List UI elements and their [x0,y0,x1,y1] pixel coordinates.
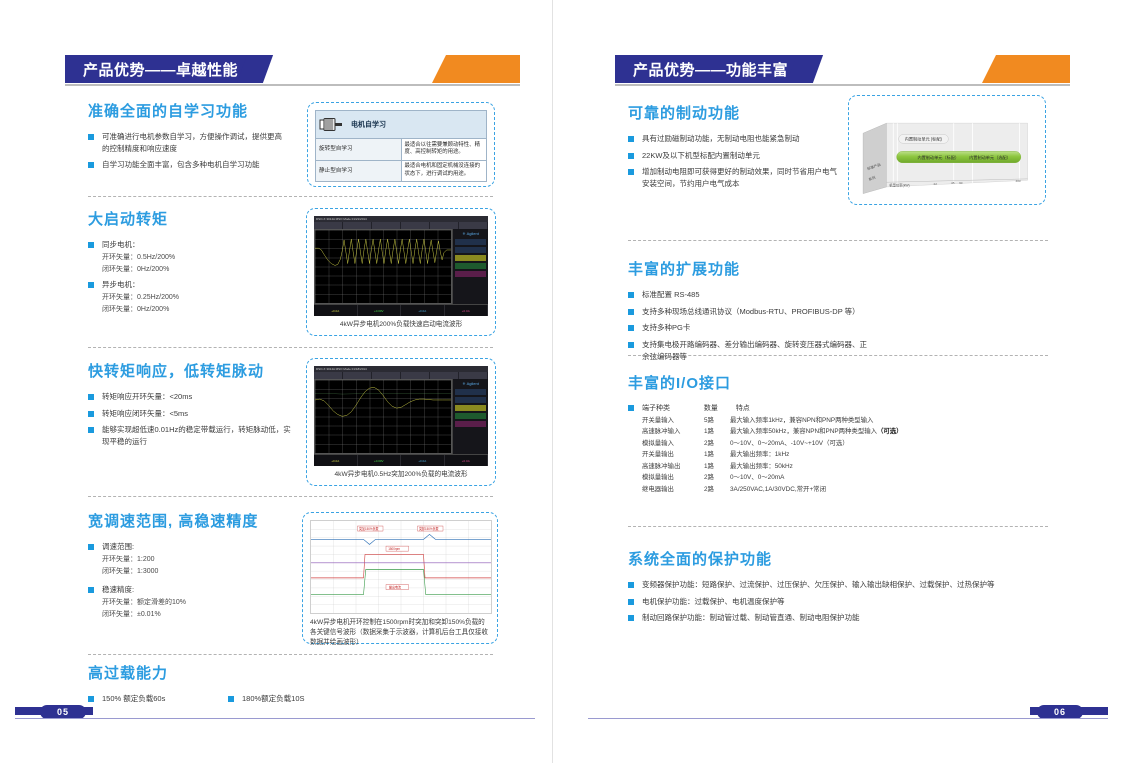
svg-text:机型功率(kW): 机型功率(kW) [889,182,909,187]
table-cell-label: 旋转型自学习 [316,139,402,161]
section-protection: 系统全面的保护功能 变频器保护功能：短路保护、过流保护、过压保护、欠压保护、输入… [628,548,1058,629]
scope-waveform-2 [315,380,451,425]
scope-menu-item [372,222,401,229]
figure-brake-diagram: 内置制动单元 (标配) 内置制动单元（标配） 内置制动单元（选配） 机型功率(k… [848,95,1046,205]
list-item: 可准确进行电机参数自学习，方便操作调试，提供更高的控制精度和响应速度 [88,131,288,154]
separator [88,654,493,655]
scope-side-chip [455,397,486,403]
io-cell-feature: 最大输出频率：50kHz [730,461,903,473]
figure-signal-chart: 突加150%负载 突卸150%负载 1500rpm 输出电流 4kW异步电机开环… [302,512,498,644]
list-item: 支持多种PG卡 [628,322,1048,334]
scope-menu-item [401,372,430,379]
io-cell-feature: 最大输出频率：1kHz [730,450,903,462]
list-item: 同步电机： [88,239,288,251]
svg-text:内置制动单元（选配）: 内置制动单元（选配） [969,154,1011,160]
agilent-logo: ✳ Agilent [453,379,488,388]
section-expansion: 丰富的扩展功能 标准配置 RS-485 支持多种现场总线通讯协议（Modbus-… [628,258,1048,367]
io-table: 开关量输入 5路 最大输入频率1kHz，兼容NPN和PNP两种类型输入 高速脉冲… [642,415,903,496]
table-row: 静止型自学习 最适合电机和固定机械没连接的状态下，进行调试的用途。 [316,160,487,182]
self-learning-table: 电机自学习 旋转型自学习 最适合以往需要兼顾动特性、精度、高控制转矩的用途。 静… [315,110,487,182]
scope-side-chip [455,247,486,253]
scope-menubar [314,222,488,229]
svg-text:45: 45 [951,181,955,185]
scope-side-chip [455,271,486,277]
oscilloscope-screenshot-1: DSO-X 3014A MSO Mode 01/21/2014 ✳ Agilen… [314,216,488,316]
io-col-header-feature: 特点 [736,405,750,412]
table-row: 高速脉冲输出 1路 最大输出频率：50kHz [642,461,903,473]
right-page: 产品优势——功能丰富 可靠的制动功能 具有过励磁制动功能，无制动电阻也能紧急制动… [570,0,1113,763]
scope-waveform-1 [315,230,451,275]
io-cell-feature-text: 最大输出频率：1kHz [730,451,789,458]
bullets-speed-accuracy: 稳速精度: [88,584,288,596]
scope-readout: +0.0A [314,305,358,316]
list-item: 180%额定负载10S [228,693,305,705]
sub-closed-loop-async: 闭环矢量：0Hz/200% [88,304,288,316]
io-cell-feature-text: 0～10V、0～20mA [730,474,784,481]
list-item: 标准配置 RS-485 [628,289,1048,301]
signal-chart-svg: 突加150%负载 突卸150%负载 1500rpm 输出电流 [311,521,491,613]
list-item: 转矩响应闭环矢量：<5ms [88,408,293,420]
figure-self-learning-table: 电机自学习 旋转型自学习 最适合以往需要兼顾动特性、精度、高控制转矩的用途。 静… [307,102,495,187]
bullets-expansion: 标准配置 RS-485 支持多种现场总线通讯协议（Modbus-RTU、PROF… [628,289,1048,362]
io-cell-qty: 1路 [704,461,730,473]
section-braking: 可靠的制动功能 具有过励磁制动功能，无制动电阻也能紧急制动 22KW及以下机型标… [628,102,838,195]
scope-menu-item [459,372,488,379]
scope-bottombar: +0.0A +0.00V +0.0A +0.0A [314,304,488,316]
scope-bottombar: +0.0A +0.00V +0.0A +0.0A [314,454,488,466]
io-cell-feature-text: 0～10V、0～20mA、-10V~+10V（可选） [730,440,849,447]
io-cell-type: 模拟量输入 [642,438,704,450]
scope-side-chip [455,405,486,411]
io-cell-type: 继电器输出 [642,484,704,496]
list-item: 能够实现超低速0.01Hz的稳定带载运行，转矩脉动低，实现平稳的运行 [88,424,293,447]
svg-text:输出电流: 输出电流 [389,584,402,589]
right-page-number: 06 [1037,705,1083,719]
list-item: 22KW及以下机型标配内置制动单元 [628,150,838,162]
io-cell-type: 开关量输入 [642,415,704,427]
left-banner: 产品优势——卓越性能 [65,55,520,83]
heading-torque-response: 快转矩响应，低转矩脉动 [88,360,293,381]
scope-grid [314,229,452,304]
bullets-speed-range: 调速范围: [88,541,288,553]
io-cell-feature-optional: （可选） [877,428,903,435]
svg-text:内置制动单元（标配）: 内置制动单元（标配） [917,154,959,160]
section-io: 丰富的I/O接口 端子种类 数量 特点 开关量输入 5路 最大输入频率1kHz，… [628,372,1058,496]
io-cell-feature: 0～10V、0～20mA、-10V~+10V（可选） [730,438,903,450]
section-overload: 高过载能力 150% 额定负载60s 180%额定负载10S [88,662,488,710]
io-cell-qty: 2路 [704,473,730,485]
io-cell-type: 开关量输出 [642,450,704,462]
left-footer-rule [15,718,535,719]
section-torque-response: 快转矩响应，低转矩脉动 转矩响应开环矢量：<20ms 转矩响应闭环矢量：<5ms… [88,360,293,453]
table-row: 继电器输出 2路 3A/250VAC,1A/30VDC,常开+常闭 [642,484,903,496]
sub-closed-loop-accuracy: 闭环矢量：±0.01% [88,609,288,621]
scope-readout: +0.0A [401,305,445,316]
svg-text:突加150%负载: 突加150%负载 [359,526,379,531]
caption-scope-2: 4kW异步电机0.5Hz突加200%负载的电流波形 [314,470,488,480]
scope-menubar [314,372,488,379]
table-cell-label: 静止型自学习 [316,160,402,182]
sub-closed-loop-sync: 闭环矢量：0Hz/200% [88,264,288,276]
table-cell-desc: 最适合电机和固定机械没连接的状态下，进行调试的用途。 [401,160,487,182]
io-cell-qty: 5路 [704,415,730,427]
left-banner-underline [65,84,520,86]
list-item: 电机保护功能：过载保护、电机温度保护等 [628,596,1058,608]
list-item: 异步电机： [88,279,288,291]
right-footer-rule [588,718,1108,719]
list-item: 支持集电极开路编码器、差分输出编码器、旋转变压器式编码器、正余弦编码器等 [628,339,872,362]
right-banner: 产品优势——功能丰富 [615,55,1070,83]
io-cell-type: 高速脉冲输入 [642,427,704,439]
svg-text:400: 400 [1015,179,1020,183]
sub-closed-loop-range: 闭环矢量：1:3000 [88,566,288,578]
left-banner-orange-tab [432,55,520,83]
sub-open-loop-sync: 开环矢量：0.5Hz/200% [88,252,288,264]
signal-chart: 突加150%负载 突卸150%负载 1500rpm 输出电流 [310,520,492,614]
scope-menu-item [401,222,430,229]
caption-signal-chart: 4kW异步电机开环控制在1500rpm时突加和突卸150%负载的各关键信号波形（… [310,618,490,648]
right-banner-orange-tab [982,55,1070,83]
scope-side-panel: ✳ Agilent [452,229,488,304]
sub-open-loop-accuracy: 开环矢量：额定滑差的10% [88,597,288,609]
section-self-learning: 准确全面的自学习功能 可准确进行电机参数自学习，方便操作调试，提供更高的控制精度… [88,100,288,176]
table-row: 模拟量输入 2路 0～10V、0～20mA、-10V~+10V（可选） [642,438,903,450]
table-row: 电机自学习 [316,111,487,139]
scope-menu-item [343,372,372,379]
bullets-protection: 变频器保护功能：短路保护、过流保护、过压保护、欠压保护、输入输出缺相保护、过载保… [628,579,1058,624]
scope-menu-item [430,372,459,379]
scope-readout: +0.0A [401,455,445,466]
scope-body: ✳ Agilent [314,229,488,304]
svg-text:22: 22 [934,182,938,186]
caption-scope-1: 4kW异步电机200%负载快速启动电流波形 [314,320,488,330]
scope-menu-item [372,372,401,379]
io-cell-feature: 最大输入频率1kHz，兼容NPN和PNP两种类型输入 [730,415,903,427]
heading-braking: 可靠的制动功能 [628,102,838,123]
svg-text:内置制动单元 (标配): 内置制动单元 (标配) [905,136,943,142]
right-banner-gap [818,55,982,83]
separator [628,240,1048,241]
io-cell-feature: 0～10V、0～20mA [730,473,903,485]
list-item: 调速范围: [88,541,288,553]
heading-io: 丰富的I/O接口 [628,372,1058,393]
left-page-number: 05 [40,705,86,719]
scope-readout: +0.00V [358,305,402,316]
svg-text:90: 90 [959,181,963,185]
left-banner-gap [268,55,432,83]
list-item: 具有过励磁制动功能，无制动电阻也能紧急制动 [628,133,838,145]
table-cell-desc: 最适合以往需要兼顾动特性、精度、高控制转矩的用途。 [401,139,487,161]
table-row: 旋转型自学习 最适合以往需要兼顾动特性、精度、高控制转矩的用途。 [316,139,487,161]
self-learning-table-title: 电机自学习 [316,111,487,139]
sub-open-loop-async: 开环矢量：0.25Hz/200% [88,292,288,304]
table-row: 开关量输入 5路 最大输入频率1kHz，兼容NPN和PNP两种类型输入 [642,415,903,427]
scope-menu-item [314,372,343,379]
section-speed-range: 宽调速范围, 高稳速精度 调速范围: 开环矢量：1:200 闭环矢量：1:300… [88,510,288,621]
right-footer: 06 [570,705,1113,723]
left-banner-title: 产品优势——卓越性能 [65,55,248,83]
figure-scope-1: DSO-X 3014A MSO Mode 01/21/2014 ✳ Agilen… [306,208,496,336]
list-item: 制动回路保护功能：制动管过载、制动管直通、制动电阻保护功能 [628,612,1058,624]
io-col-header-qty: 数量 [704,405,718,412]
io-col-header-type: 端子种类 [642,405,670,412]
self-learning-table-title-text: 电机自学习 [351,121,386,128]
heading-overload: 高过载能力 [88,662,488,683]
scope-side-chip [455,255,486,261]
io-cell-type: 模拟量输出 [642,473,704,485]
table-row: 模拟量输出 2路 0～10V、0～20mA [642,473,903,485]
scope-menu-item [459,222,488,229]
scope-body: ✳ Agilent [314,379,488,454]
scope-readout: +0.0A [445,305,489,316]
oscilloscope-screenshot-2: DSO-X 3014A MSO Mode 01/18/2014 ✳ Agile [314,366,488,466]
scope-readout: +0.0A [314,455,358,466]
io-cell-feature-text: 最大输入频率1kHz，兼容NPN和PNP两种类型输入 [730,417,873,424]
io-cell-feature-text: 最大输入频率50kHz，兼容NPN和PNP两种类型输入 [730,428,877,435]
scope-menu-item [314,222,343,229]
list-item: 稳速精度: [88,584,288,596]
separator [88,196,493,197]
io-cell-type: 高速脉冲输出 [642,461,704,473]
list-item: 支持多种现场总线通讯协议（Modbus-RTU、PROFIBUS-DP 等） [628,306,1048,318]
table-row: 开关量输出 1路 最大输出频率：1kHz [642,450,903,462]
scope-side-chip [455,413,486,419]
scope-side-panel: ✳ Agilent [452,379,488,454]
sub-open-loop-range: 开环矢量：1:200 [88,554,288,566]
list-item: 变频器保护功能：短路保护、过流保护、过压保护、欠压保护、输入输出缺相保护、过载保… [628,579,1058,591]
io-table-header-row: 端子种类 数量 特点 [628,403,1058,413]
io-cell-qty: 1路 [704,450,730,462]
separator [88,347,493,348]
scope-side-chip [455,389,486,395]
scope-side-chip [455,421,486,427]
list-item: 自学习功能全面丰富，包含多种电机自学习功能 [88,159,288,171]
scope-side-chip [455,239,486,245]
io-cell-qty: 1路 [704,427,730,439]
bullets-start-torque-async: 异步电机： [88,279,288,291]
list-item: 150% 额定负载60s [88,693,228,705]
io-cell-qty: 2路 [704,484,730,496]
io-cell-feature-text: 最大输出频率：50kHz [730,463,793,470]
section-start-torque: 大启动转矩 同步电机： 开环矢量：0.5Hz/200% 闭环矢量：0Hz/200… [88,208,288,316]
bullets-braking: 具有过励磁制动功能，无制动电阻也能紧急制动 22KW及以下机型标配内置制动单元 … [628,133,838,190]
heading-speed-range: 宽调速范围, 高稳速精度 [88,510,288,531]
heading-protection: 系统全面的保护功能 [628,548,1058,569]
brake-diagram-svg: 内置制动单元 (标配) 内置制动单元（标配） 内置制动单元（选配） 机型功率(k… [856,103,1038,197]
bullets-torque-response: 转矩响应开环矢量：<20ms 转矩响应闭环矢量：<5ms 能够实现超低速0.01… [88,391,293,448]
table-row: 高速脉冲输入 1路 最大输入频率50kHz，兼容NPN和PNP两种类型输入（可选… [642,427,903,439]
separator [88,496,493,497]
left-page: 产品优势——卓越性能 准确全面的自学习功能 可准确进行电机参数自学习，方便操作调… [10,0,553,763]
separator [628,355,1048,356]
scope-grid [314,379,452,454]
separator [628,526,1048,527]
io-cell-feature-text: 3A/250VAC,1A/30VDC,常开+常闭 [730,486,826,493]
scope-menu-item [343,222,372,229]
figure-scope-2: DSO-X 3014A MSO Mode 01/18/2014 ✳ Agile [306,358,496,486]
scope-readout: +0.0A [445,455,489,466]
io-cell-feature: 3A/250VAC,1A/30VDC,常开+常闭 [730,484,903,496]
list-item: 增加制动电阻即可获得更好的制动效果，同时节省用户电气安装空间，节约用户电气成本 [628,166,838,189]
heading-start-torque: 大启动转矩 [88,208,288,229]
agilent-logo: ✳ Agilent [453,229,488,238]
scope-side-chip [455,263,486,269]
bullets-start-torque: 同步电机： [88,239,288,251]
scope-readout: +0.00V [358,455,402,466]
io-cell-feature: 最大输入频率50kHz，兼容NPN和PNP两种类型输入（可选） [730,427,903,439]
io-cell-qty: 2路 [704,438,730,450]
svg-text:1500rpm: 1500rpm [388,547,400,551]
scope-menu-item [430,222,459,229]
motor-icon [319,118,345,131]
svg-text:突卸150%负载: 突卸150%负载 [419,526,439,531]
left-footer: 05 [10,705,553,723]
heading-expansion: 丰富的扩展功能 [628,258,1048,279]
right-banner-title: 产品优势——功能丰富 [615,55,798,83]
right-banner-underline [615,84,1070,86]
bullets-self-learning: 可准确进行电机参数自学习，方便操作调试，提供更高的控制精度和响应速度 自学习功能… [88,131,288,171]
heading-self-learning: 准确全面的自学习功能 [88,100,288,121]
list-item: 转矩响应开环矢量：<20ms [88,391,293,403]
